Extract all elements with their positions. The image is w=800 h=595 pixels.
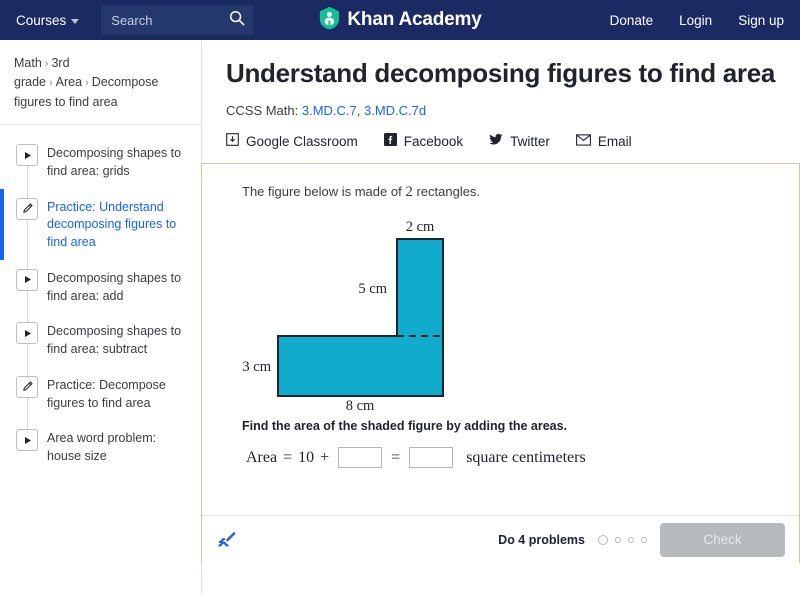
search-icon bbox=[229, 10, 245, 31]
answer-input-1[interactable] bbox=[338, 447, 382, 468]
share-twitter-button[interactable]: Twitter bbox=[489, 133, 550, 149]
prompt-text-before: The figure below is made of bbox=[242, 184, 402, 199]
search-box[interactable]: Search bbox=[101, 5, 253, 35]
play-icon bbox=[16, 429, 38, 451]
share-email-button[interactable]: Email bbox=[576, 134, 632, 149]
figure-label-bottom: 8 cm bbox=[346, 398, 375, 411]
figure-vertical-rectangle bbox=[397, 239, 443, 336]
breadcrumb-item-math[interactable]: Math bbox=[14, 56, 42, 70]
l-shape-figure: 2 cm 5 cm 3 cm 8 cm bbox=[234, 211, 484, 411]
active-indicator-bar bbox=[0, 189, 4, 260]
sidebar-item-area-word-problem[interactable]: Area word problem: house size bbox=[0, 420, 201, 474]
pencil-icon bbox=[16, 198, 38, 220]
sidebar-item-decomposing-add[interactable]: Decomposing shapes to find area: add bbox=[0, 260, 201, 314]
progress-dot-current bbox=[598, 535, 608, 545]
prompt-rectangle-count: 2 bbox=[405, 184, 413, 200]
do-problems-label: Do 4 problems bbox=[498, 533, 585, 547]
share-google-classroom-button[interactable]: Google Classroom bbox=[226, 133, 358, 149]
sidebar-nav-list: Decomposing shapes to find area: grids P… bbox=[0, 125, 201, 474]
sidebar-item-decomposing-grids[interactable]: Decomposing shapes to find area: grids bbox=[0, 135, 201, 189]
page-body: Math›3rd grade›Area›Decompose figures to… bbox=[0, 40, 800, 595]
twitter-icon bbox=[489, 133, 503, 149]
scratchpad-icon[interactable] bbox=[216, 529, 238, 551]
exercise-card: The figure below is made of 2 rectangles… bbox=[201, 163, 800, 563]
exercise-question: Find the area of the shaded figure by ad… bbox=[242, 419, 777, 433]
answer-known-value: 10 bbox=[298, 449, 314, 467]
share-row: Google Classroom Facebook bbox=[226, 133, 778, 149]
share-label: Email bbox=[598, 134, 632, 149]
courses-menu-label: Courses bbox=[16, 13, 66, 28]
top-navigation-bar: Courses Search Khan Academy Donate Login… bbox=[0, 0, 800, 40]
main-header-block: Understand decomposing figures to find a… bbox=[202, 40, 800, 149]
figure-label-vertical: 5 cm bbox=[358, 281, 387, 297]
sidebar-item-label: Decomposing shapes to find area: subtrac… bbox=[47, 321, 189, 359]
figure-horizontal-rectangle bbox=[278, 336, 443, 396]
ccss-link-1[interactable]: 3.MD.C.7 bbox=[302, 103, 357, 118]
brand-name: Khan Academy bbox=[347, 9, 481, 31]
facebook-icon bbox=[384, 133, 397, 149]
progress-dot-pending bbox=[641, 537, 647, 543]
top-nav-actions: Donate Login Sign up bbox=[610, 13, 784, 28]
ccss-separator: , bbox=[357, 103, 364, 118]
chevron-down-icon bbox=[71, 19, 79, 24]
answer-plus-sign: + bbox=[320, 449, 329, 467]
sidebar-item-label: Practice: Decompose figures to find area bbox=[47, 375, 189, 413]
exercise-prompt: The figure below is made of 2 rectangles… bbox=[242, 184, 777, 201]
exercise-footer: Do 4 problems Check bbox=[202, 515, 799, 563]
play-icon bbox=[16, 322, 38, 344]
problem-progress-dots bbox=[598, 535, 647, 545]
courses-menu-button[interactable]: Courses bbox=[16, 13, 79, 28]
ccss-standards: CCSS Math: 3.MD.C.7, 3.MD.C.7d bbox=[226, 103, 778, 118]
breadcrumb-separator: › bbox=[45, 58, 49, 70]
figure-label-top: 2 cm bbox=[406, 219, 435, 235]
progress-dot-pending bbox=[628, 537, 634, 543]
answer-unit-label: square centimeters bbox=[466, 449, 586, 467]
sidebar-item-label: Area word problem: house size bbox=[47, 428, 189, 466]
login-link[interactable]: Login bbox=[679, 13, 712, 28]
ccss-label: CCSS Math: bbox=[226, 103, 298, 118]
sidebar-item-label: Practice: Understand decomposing figures… bbox=[47, 197, 189, 252]
prompt-text-after: rectangles. bbox=[416, 184, 480, 199]
breadcrumb-separator: › bbox=[85, 77, 89, 89]
sidebar: Math›3rd grade›Area›Decompose figures to… bbox=[0, 40, 202, 595]
play-icon bbox=[16, 269, 38, 291]
khan-academy-logo-link[interactable]: Khan Academy bbox=[318, 6, 481, 35]
breadcrumb-item-area[interactable]: Area bbox=[56, 75, 82, 89]
exercise-body: The figure below is made of 2 rectangles… bbox=[202, 164, 799, 515]
sidebar-item-label: Decomposing shapes to find area: grids bbox=[47, 143, 189, 181]
pencil-icon bbox=[16, 376, 38, 398]
sidebar-item-practice-decompose-figures[interactable]: Practice: Decompose figures to find area bbox=[0, 367, 201, 421]
sidebar-item-label: Decomposing shapes to find area: add bbox=[47, 268, 189, 306]
play-icon bbox=[16, 144, 38, 166]
answer-equals-1: = bbox=[283, 449, 292, 467]
main-content: Understand decomposing figures to find a… bbox=[202, 40, 800, 595]
sidebar-item-practice-understand-decomposing[interactable]: Practice: Understand decomposing figures… bbox=[0, 189, 201, 260]
breadcrumb-separator: › bbox=[49, 77, 53, 89]
figure-label-left: 3 cm bbox=[242, 359, 271, 375]
share-facebook-button[interactable]: Facebook bbox=[384, 133, 463, 149]
answer-expression: Area = 10 + = square centimeters bbox=[246, 447, 777, 468]
share-label: Facebook bbox=[404, 134, 463, 149]
khan-academy-shield-icon bbox=[318, 6, 340, 35]
share-label: Google Classroom bbox=[246, 134, 358, 149]
check-answer-button[interactable]: Check bbox=[660, 523, 785, 557]
email-icon bbox=[576, 134, 591, 149]
footer-right-group: Do 4 problems Check bbox=[498, 523, 785, 557]
answer-input-2[interactable] bbox=[409, 447, 453, 468]
search-input[interactable]: Search bbox=[111, 13, 229, 28]
sidebar-item-decomposing-subtract[interactable]: Decomposing shapes to find area: subtrac… bbox=[0, 313, 201, 367]
answer-label-area: Area bbox=[246, 449, 277, 467]
signup-link[interactable]: Sign up bbox=[738, 13, 784, 28]
page-title: Understand decomposing figures to find a… bbox=[226, 58, 778, 89]
google-classroom-icon bbox=[226, 133, 239, 149]
figure-area: 2 cm 5 cm 3 cm 8 cm bbox=[224, 211, 777, 411]
progress-dot-pending bbox=[615, 537, 621, 543]
answer-equals-2: = bbox=[391, 449, 400, 467]
donate-link[interactable]: Donate bbox=[610, 13, 654, 28]
ccss-link-2[interactable]: 3.MD.C.7d bbox=[364, 103, 426, 118]
breadcrumb: Math›3rd grade›Area›Decompose figures to… bbox=[0, 40, 201, 125]
share-label: Twitter bbox=[510, 134, 550, 149]
